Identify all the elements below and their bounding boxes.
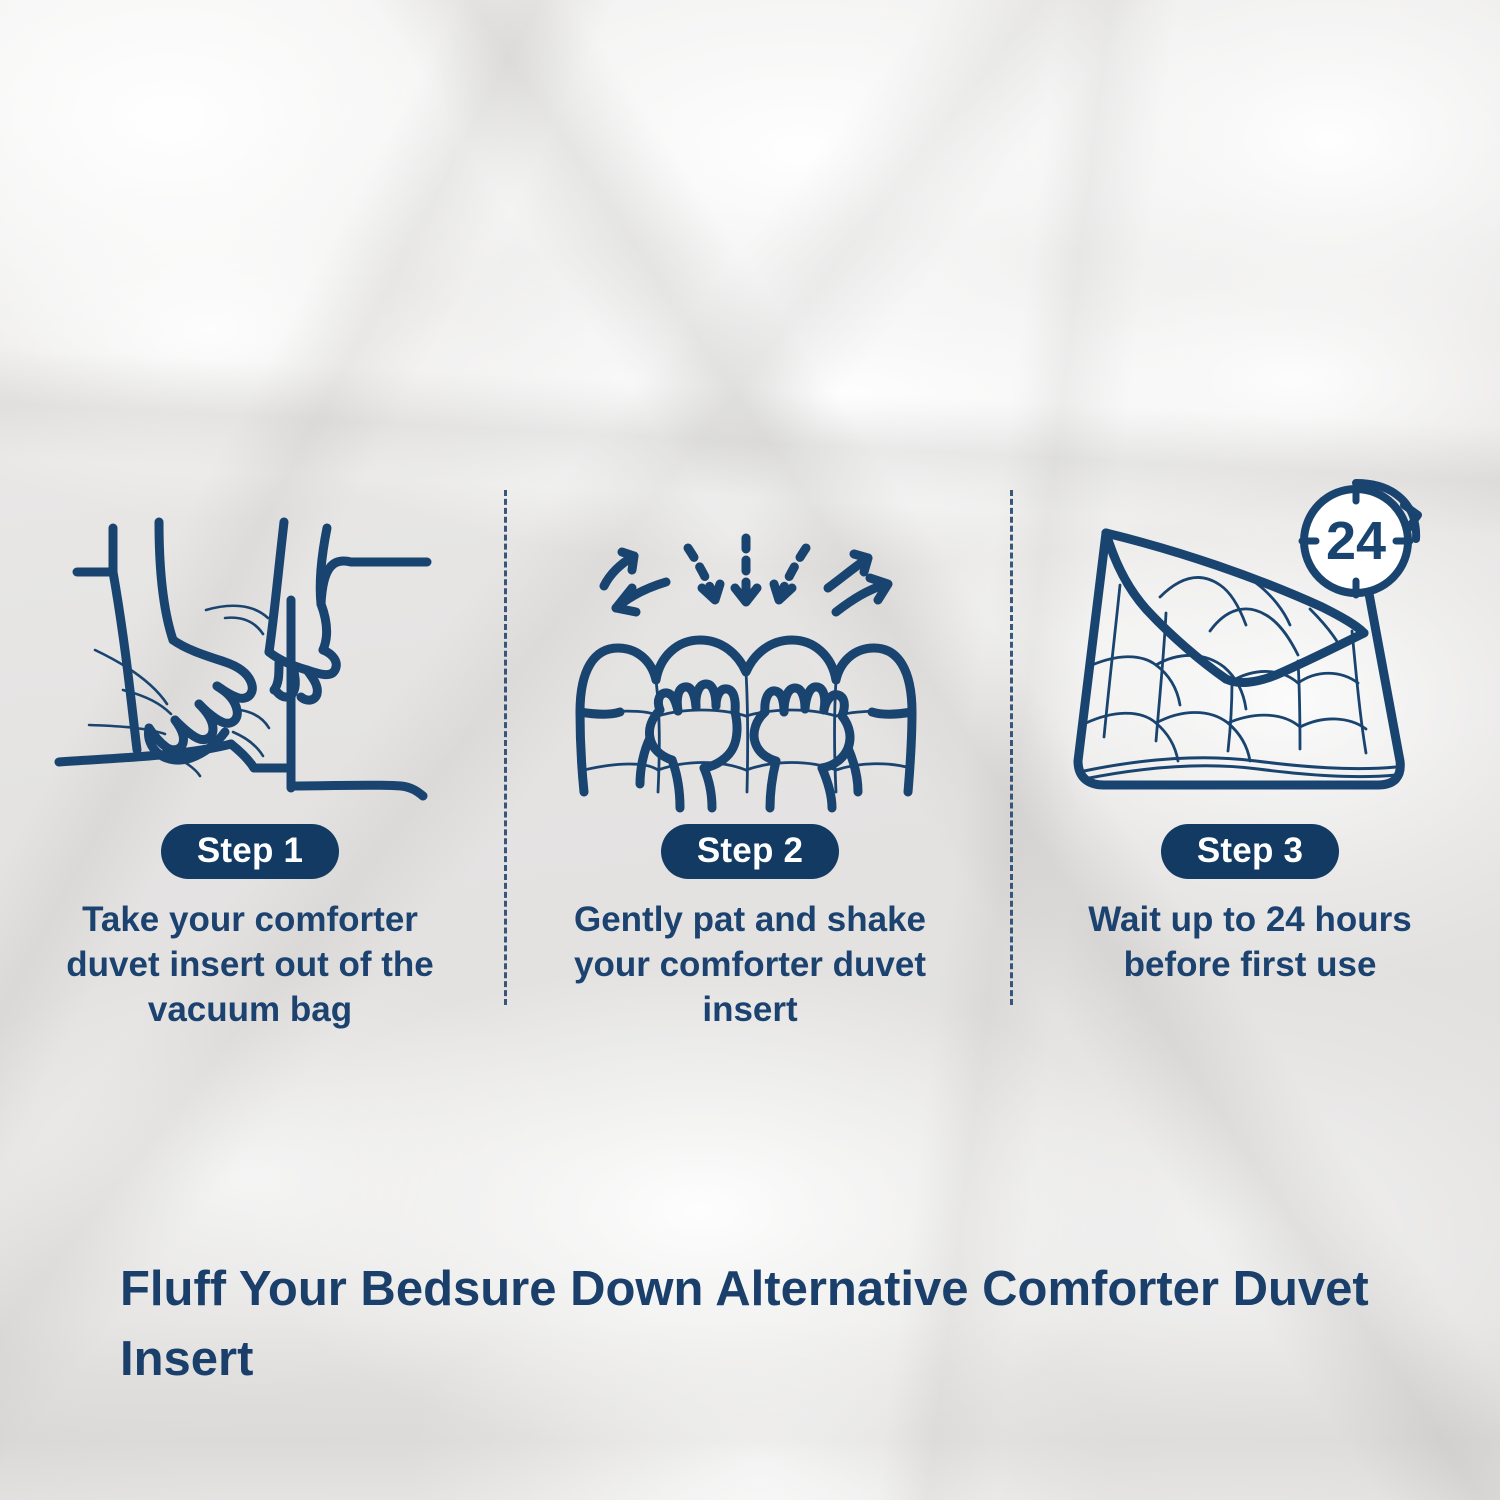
hands-patting-quilted-comforter-icon: [560, 500, 940, 810]
step-column-3: 24 Step 3 Wait up to 24 hours before fir…: [1000, 470, 1500, 1090]
arrow-out-right-1: [828, 554, 868, 588]
headline-line-1: Fluff Your Bedsure Down Alternative Comf…: [120, 1262, 1219, 1316]
instruction-graphic: Step 1 Take your comforter duvet insert …: [0, 0, 1500, 1500]
step-3-badge: Step 3: [1161, 824, 1339, 879]
folded-comforter-with-clock-icon: 24: [1060, 485, 1440, 810]
steps-row: Step 1 Take your comforter duvet insert …: [0, 470, 1500, 1090]
clock-badge-value: 24: [1326, 511, 1386, 571]
step-column-1: Step 1 Take your comforter duvet insert …: [0, 470, 500, 1090]
arrow-out-left-2: [616, 582, 666, 612]
page-headline: Fluff Your Bedsure Down Alternative Comf…: [120, 1255, 1450, 1394]
arrow-out-right-2: [836, 578, 888, 612]
step-2-caption: Gently pat and shake your comforter duve…: [535, 898, 965, 1032]
step-2-badge: Step 2: [661, 824, 839, 879]
step-3-caption: Wait up to 24 hours before first use: [1035, 898, 1465, 988]
left-hand-icon: [640, 684, 737, 808]
step-3-illustration: 24: [1000, 470, 1500, 810]
column-divider-1: [504, 490, 507, 1005]
step-1-caption: Take your comforter duvet insert out of …: [35, 898, 465, 1032]
two-hands-pulling-fabric-icon: [55, 500, 445, 810]
step-1-badge: Step 1: [161, 824, 339, 879]
step-1-illustration: [0, 470, 500, 810]
arrow-out-left-1: [604, 552, 634, 586]
step-column-2: Step 2 Gently pat and shake your comfort…: [500, 470, 1000, 1090]
step-2-illustration: [500, 470, 1000, 810]
right-hand-icon: [754, 687, 858, 808]
column-divider-2: [1010, 490, 1013, 1005]
